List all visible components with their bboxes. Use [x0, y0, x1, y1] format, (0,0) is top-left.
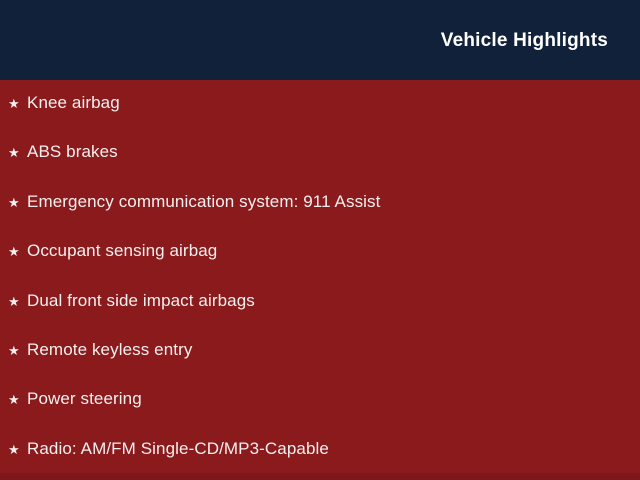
star-bullet-icon: ★: [8, 344, 27, 357]
list-item: ★ Knee airbag: [0, 94, 640, 143]
highlights-list: ★ Knee airbag ★ ABS brakes ★ Emergency c…: [0, 94, 640, 480]
list-item: ★ Power steering: [0, 390, 640, 439]
star-bullet-icon: ★: [8, 443, 27, 456]
list-item-label: Radio: AM/FM Single-CD/MP3-Capable: [27, 440, 329, 457]
star-bullet-icon: ★: [8, 97, 27, 110]
star-bullet-icon: ★: [8, 295, 27, 308]
star-bullet-icon: ★: [8, 393, 27, 406]
list-item: ★ Dual front side impact airbags: [0, 292, 640, 341]
list-item-label: Power steering: [27, 390, 142, 407]
list-item-label: Remote keyless entry: [27, 341, 192, 358]
highlights-panel: ★ Knee airbag ★ ABS brakes ★ Emergency c…: [0, 80, 640, 480]
list-item: ★ Occupant sensing airbag: [0, 242, 640, 291]
star-bullet-icon: ★: [8, 245, 27, 258]
list-item: ★ Remote keyless entry: [0, 341, 640, 390]
list-item-label: Knee airbag: [27, 94, 120, 111]
list-item: ★ ABS brakes: [0, 143, 640, 192]
list-item-label: Dual front side impact airbags: [27, 292, 255, 309]
list-item-label: Occupant sensing airbag: [27, 242, 217, 259]
star-bullet-icon: ★: [8, 146, 27, 159]
list-item-label: Emergency communication system: 911 Assi…: [27, 193, 380, 210]
vehicle-highlights-page: Vehicle Highlights ★ Knee airbag ★ ABS b…: [0, 0, 640, 480]
list-item-label: ABS brakes: [27, 143, 118, 160]
star-bullet-icon: ★: [8, 196, 27, 209]
page-header: Vehicle Highlights: [0, 0, 640, 80]
list-item: ★ Emergency communication system: 911 As…: [0, 193, 640, 242]
content-bottom-edge: [0, 473, 640, 480]
page-title: Vehicle Highlights: [441, 31, 608, 50]
